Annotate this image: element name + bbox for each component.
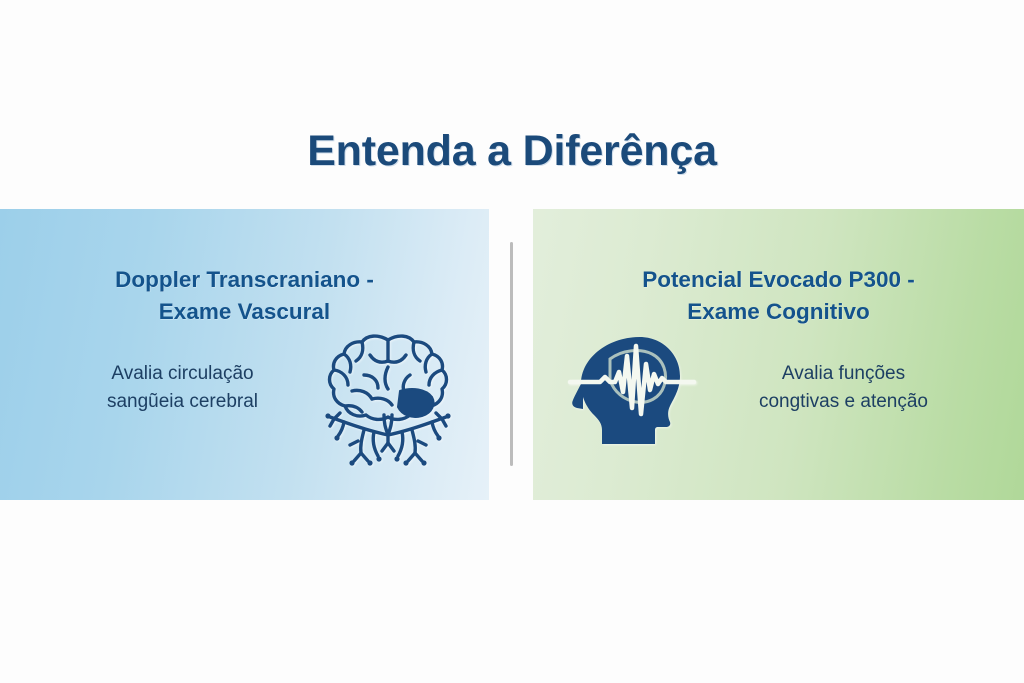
brain-fold-1 (370, 355, 388, 362)
vessel-node-r2 (436, 435, 441, 440)
head-nose (572, 380, 583, 409)
vessel-branch-l9 (373, 432, 378, 456)
vessel-node-r5 (394, 456, 399, 461)
brain-vessels-icon (312, 331, 464, 467)
page-title: Entenda a Diferênça (0, 128, 1024, 175)
brain-fold-9 (385, 367, 388, 389)
brain-fold-2 (388, 355, 406, 362)
vessel-branch-l5 (361, 430, 364, 453)
right-panel-heading-line2: Exame Cognitivo (687, 299, 870, 324)
vessel-node-l4 (367, 460, 372, 465)
right-panel-heading-line1: Potencial Evocado P300 - (642, 267, 915, 292)
left-panel-description: Avalia circulação sangũeia cerebral (55, 360, 310, 416)
vessel-branch-l4 (334, 413, 340, 419)
brain-filled-lobe (398, 389, 434, 417)
vessel-node-r4 (403, 460, 408, 465)
left-panel-heading-line1: Doppler Transcraniano - (115, 267, 374, 292)
vessel-node-r1 (445, 413, 450, 418)
vessel-branch-r4 (436, 413, 442, 419)
vessel-node-l2 (334, 435, 339, 440)
left-panel-description-line1: Avalia circulação (111, 363, 253, 384)
left-panel-heading: Doppler Transcraniano - Exame Vascural (0, 264, 489, 328)
brain-fold-6 (413, 342, 420, 361)
brain-fold-4 (344, 354, 351, 372)
brain-fold-8 (429, 370, 442, 385)
vessel-branch-r7 (408, 453, 415, 461)
right-panel-description-line2: congtivas e atenção (759, 391, 928, 412)
brain-fold-12 (372, 398, 392, 405)
vessel-node-l3 (349, 460, 354, 465)
right-panel-description: Avalia funções congtivas e atenção (716, 360, 971, 416)
vessel-node-l1 (325, 413, 330, 418)
right-panel-heading: Potencial Evocado P300 - Exame Cognitivo (533, 264, 1024, 328)
right-panel-description-line1: Avalia funções (782, 363, 905, 384)
vessel-branch-r8 (418, 441, 426, 445)
brain-fold-10 (364, 375, 378, 388)
head-brainwave-icon (570, 334, 694, 447)
infographic-canvas: Entenda a Diferênça Doppler Transcranian… (0, 0, 1024, 683)
vessel-branch-l8 (350, 441, 358, 445)
vessel-node-r3 (421, 460, 426, 465)
brain-fold-3 (356, 342, 363, 361)
vessel-branch-r5 (412, 430, 415, 453)
vertical-divider (510, 242, 513, 466)
vessel-branch-c2 (388, 443, 394, 451)
vessel-branch-l7 (361, 453, 368, 461)
left-panel-heading-line2: Exame Vascural (159, 299, 330, 324)
vessel-branch-r9 (398, 432, 403, 456)
brain-fold-7 (425, 354, 432, 372)
brain-fold-5 (334, 370, 348, 385)
brain-fold-11 (352, 390, 372, 399)
vessel-node-l5 (376, 456, 381, 461)
left-panel-description-line2: sangũeia cerebral (107, 391, 258, 412)
